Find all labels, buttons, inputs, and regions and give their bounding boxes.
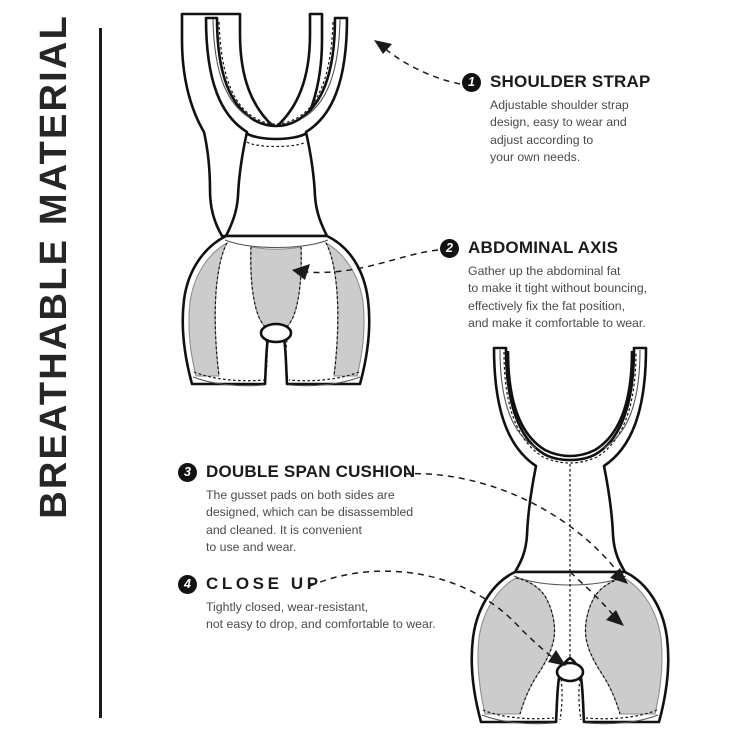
front-gusset-opening [261,324,291,342]
front-right-hem-line [289,377,360,386]
callout-2-body: Gather up the abdominal fat to make it t… [440,263,647,333]
badge-number-2: 2 [440,239,459,258]
callout-1-heading: 1 SHOULDER STRAP [462,72,651,92]
callout-3-body: The gusset pads on both sides are design… [178,487,415,557]
back-neckline-band [508,351,632,456]
front-center-abdominal-panel [251,247,302,332]
leader-arrow-3b [606,610,624,626]
back-strap-inner-right [604,350,640,448]
front-bust-band [246,133,307,139]
front-shorts [183,236,370,384]
back-neckline-stitch [504,352,636,463]
front-right-panel-stitch [326,243,338,376]
front-bodice [206,18,347,236]
callout-3-title: DOUBLE SPAN CUSHION [206,462,415,482]
side-title-container: BREATHABLE MATERIAL [0,0,104,750]
leader-line-3 [404,474,618,572]
leader-line-2 [306,250,438,272]
front-waist-seam [225,240,328,248]
badge-number-3: 3 [178,463,197,482]
leader-line-1 [382,46,460,84]
leader-line-3b [570,572,614,616]
callout-2-title: ABDOMINAL AXIS [468,238,618,258]
front-strap-inner-left [213,19,250,118]
front-strap-inner-right [303,19,340,118]
callout-3-heading: 3 DOUBLE SPAN CUSHION [178,462,415,482]
back-shorts [472,572,669,722]
front-right-hem-stitch [289,372,359,381]
callout-4-body: Tightly closed, wear-resistant, not easy… [178,599,436,634]
front-view-bodysuit [182,14,369,386]
back-left-buttock-panel [478,578,555,714]
back-strap-inner-left [500,350,536,448]
front-left-hem-line [193,377,264,386]
leader-arrow-1 [374,40,392,54]
page-title: BREATHABLE MATERIAL [24,14,84,734]
callout-2-heading: 2 ABDOMINAL AXIS [440,238,647,258]
back-right-hem-line [586,715,658,724]
back-left-hem-line [482,715,554,724]
infographic-page: .outline { fill:#ffffff; stroke:#111111;… [0,0,750,750]
back-left-panel-stitch [516,578,555,714]
callout-close-up: 4 CLOSE UP Tightly closed, wear-resistan… [178,574,436,634]
front-gusset-stitch [265,340,288,380]
vertical-divider [99,28,102,718]
front-right-side-panel [326,243,364,376]
leader-arrow-3 [610,568,628,584]
callout-shoulder-strap: 1 SHOULDER STRAP Adjustable shoulder str… [462,72,651,167]
back-gusset-opening [557,663,583,681]
front-center-panel-left-stitch [251,247,276,332]
back-waist-seam [514,576,626,585]
callout-4-heading: 4 CLOSE UP [178,574,436,594]
front-center-panel-right-stitch [276,247,301,332]
front-left-side-panel [189,243,227,376]
front-left-hem-stitch [194,372,264,381]
badge-number-4: 4 [178,575,197,594]
callout-4-title: CLOSE UP [206,574,322,594]
callout-1-body: Adjustable shoulder strap design, easy t… [462,97,651,167]
back-left-hem-stitch [483,710,554,719]
front-inner-bust-stitch [247,142,306,147]
back-gusset-stitch [560,679,581,720]
back-bodice [494,348,646,572]
back-view-bodysuit [472,348,669,724]
back-right-buttock-panel [585,578,662,714]
back-right-panel-stitch [585,578,624,714]
callout-double-span-cushion: 3 DOUBLE SPAN CUSHION The gusset pads on… [178,462,415,557]
callout-1-title: SHOULDER STRAP [490,72,651,92]
leader-arrow-2 [292,264,310,280]
front-body-outline [182,14,322,236]
badge-number-1: 1 [462,73,481,92]
front-left-panel-stitch [215,243,227,376]
back-right-hem-stitch [586,710,657,719]
leader-arrow-4 [548,650,566,666]
front-outer-neckline-stitch [219,22,333,124]
callout-abdominal-axis: 2 ABDOMINAL AXIS Gather up the abdominal… [440,238,647,333]
